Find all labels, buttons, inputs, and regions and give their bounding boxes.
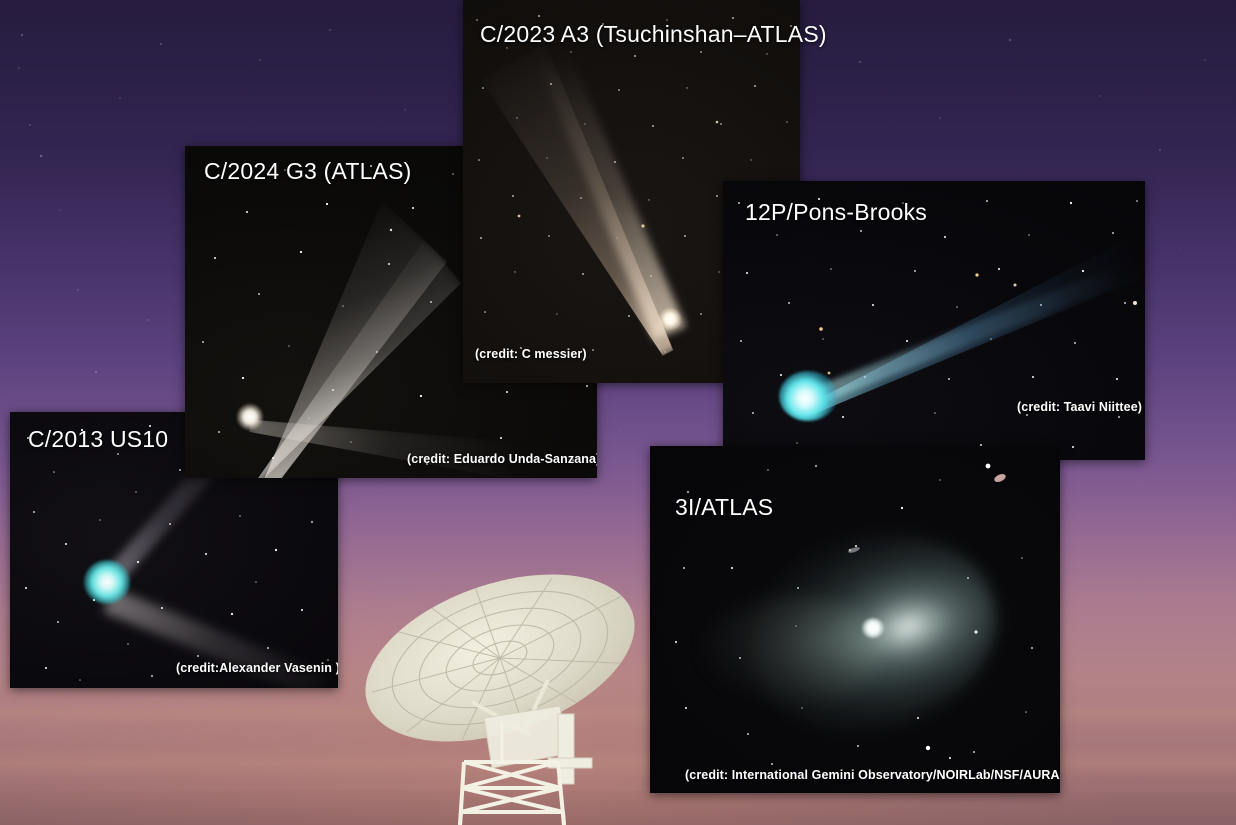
comet-photo-3i-atlas[interactable]: 3I/ATLAS (credit: International Gemini O…: [650, 446, 1060, 793]
panel-title-12p-pons-brooks: 12P/Pons-Brooks: [745, 199, 927, 226]
comet-nucleus: [659, 308, 681, 330]
panel-credit-c2013-us10: (credit:Alexander Vasenin ): [176, 661, 338, 675]
panel-credit-c2024-g3: (credit: Eduardo Unda-Sanzana): [407, 452, 597, 466]
panel-title-c2013-us10: C/2013 US10: [28, 426, 168, 453]
panel-credit-3i-atlas: (credit: International Gemini Observator…: [685, 768, 1060, 782]
comet-nucleus: [237, 404, 263, 430]
comet-nucleus: [862, 618, 884, 638]
slide-canvas: C/2013 US10 (credit:Alexander Vasenin ): [0, 0, 1236, 825]
comet-photo-12p-pons-brooks[interactable]: 12P/Pons-Brooks (credit: Taavi Niittee): [723, 181, 1145, 460]
panel-title-c2023-a3: C/2023 A3 (Tsuchinshan–ATLAS): [480, 21, 827, 48]
panel-title-c2024-g3: C/2024 G3 (ATLAS): [204, 158, 412, 185]
panel-credit-c2023-a3: (credit: C messier): [475, 347, 587, 361]
radio-telescope-icon: [352, 572, 652, 825]
panel-title-3i-atlas: 3I/ATLAS: [675, 494, 773, 521]
comet-coma: [779, 371, 837, 421]
panel-credit-12p-pons-brooks: (credit: Taavi Niittee): [1017, 400, 1142, 414]
comet-coma: [84, 560, 130, 604]
